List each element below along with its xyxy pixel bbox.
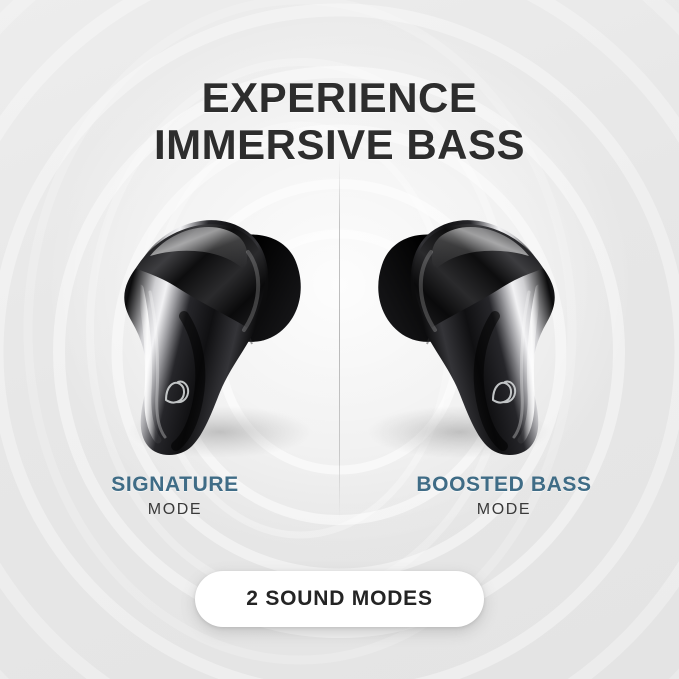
vertical-divider (339, 158, 340, 518)
page-title: EXPERIENCE IMMERSIVE BASS (0, 74, 679, 168)
earbud-right-icon (341, 196, 591, 462)
earbud-left-icon (88, 196, 338, 462)
headline-line-1: EXPERIENCE (202, 74, 478, 121)
badge-label: 2 SOUND MODES (246, 587, 433, 611)
mode-label-boosted-bass: BOOSTED BASS MODE (339, 473, 669, 520)
mode-subtitle: MODE (339, 500, 669, 520)
sound-modes-badge: 2 SOUND MODES (195, 571, 484, 627)
mode-title: SIGNATURE (10, 473, 340, 497)
product-feature-banner: EXPERIENCE IMMERSIVE BASS (0, 0, 679, 679)
mode-title: BOOSTED BASS (339, 473, 669, 497)
mode-subtitle: MODE (10, 500, 340, 520)
mode-label-signature: SIGNATURE MODE (10, 473, 340, 520)
